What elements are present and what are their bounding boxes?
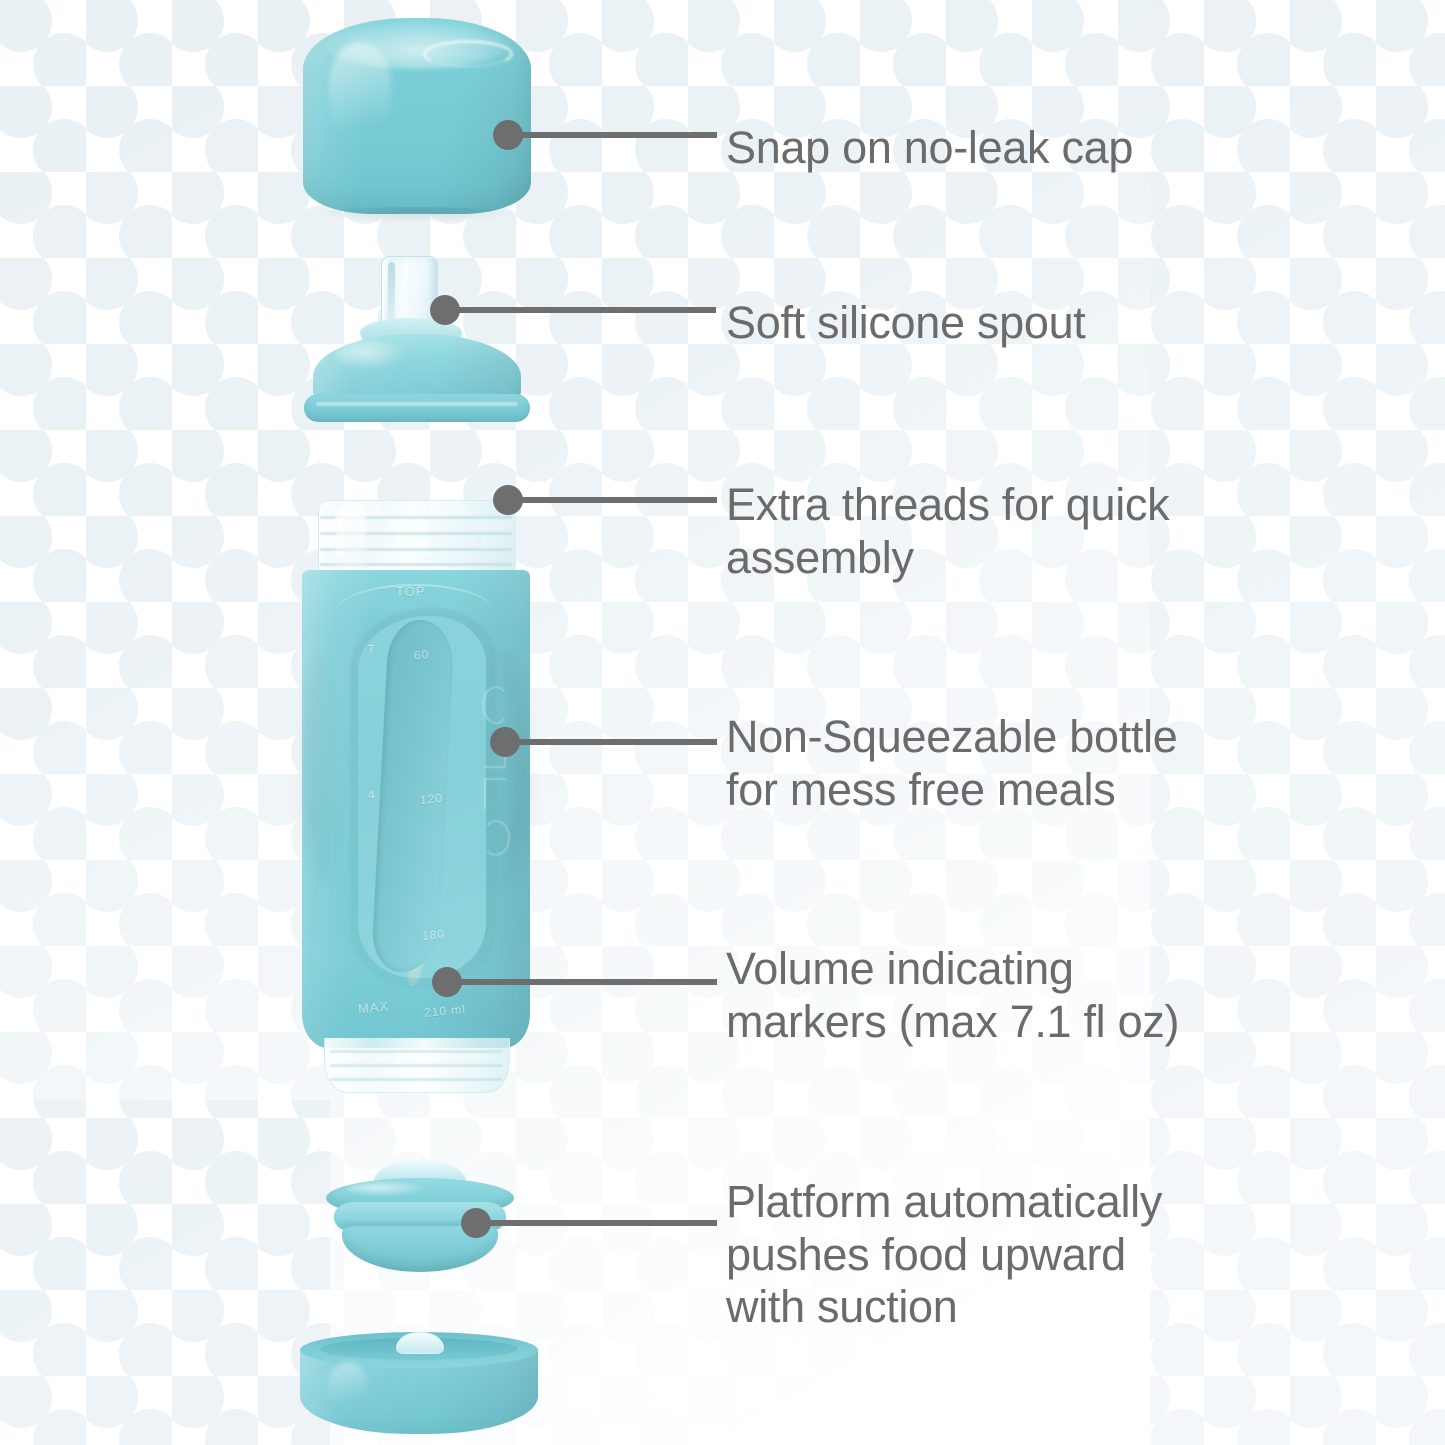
product-part-bottom-cap [300,1332,538,1442]
callout-line-markers [460,979,717,985]
callout-line-platform [489,1220,717,1226]
callout-line-threads [521,497,717,503]
callout-line-cap [521,132,717,138]
callout-leader-threads [493,485,717,515]
platform-flange-highlight [346,1182,426,1196]
emboss-graduation: 4 [367,788,376,803]
emboss-graduation: 7 [367,642,376,657]
callout-dot-markers [432,967,462,997]
callout-dot-cap [493,120,523,150]
bottom-cap-clear-nub [396,1332,444,1354]
spout-flange-ridge [316,402,518,406]
callout-label-cap: Snap on no-leak cap [726,122,1133,175]
callout-label-markers: Volume indicating markers (max 7.1 fl oz… [726,943,1179,1048]
sleeve-side-emboss-glyph [482,820,510,856]
callout-label-platform: Platform automatically pushes food upwar… [726,1176,1162,1334]
callout-dot-threads [493,485,523,515]
spout-lid-flange [304,394,530,422]
cap-base-shadow [313,207,521,223]
emboss-max-label: MAX [357,999,389,1017]
callout-leader-platform [461,1208,717,1238]
callout-leader-bottle [490,727,717,757]
callout-label-spout: Soft silicone spout [726,297,1086,350]
emboss-graduation: 180 [421,927,445,943]
emboss-top-label: TOP [396,584,426,599]
bottle-base-ring [330,1078,502,1081]
sleeve-side-emboss-glyph [484,778,506,810]
callout-dot-spout [430,295,460,325]
callout-dot-platform [461,1208,491,1238]
bottle-base-ring [330,1064,502,1067]
callout-leader-spout [430,295,716,325]
background-dot-pattern [0,0,1445,1445]
sleeve-left-shading [302,650,348,880]
bottom-cap-highlight [328,1362,368,1414]
callout-leader-markers [432,967,717,997]
callout-line-spout [458,307,716,313]
callout-leader-cap [493,120,717,150]
callout-dot-bottle [490,727,520,757]
product-part-bottle: TOP 7 60 4 120 180 MAX 210 ml [296,500,536,1100]
callout-label-bottle: Non-Squeezable bottle for mess free meal… [726,711,1178,816]
callout-line-bottle [518,739,717,745]
spout-nozzle-highlight [388,262,395,324]
emboss-graduation: 60 [413,647,430,663]
spout-dome-highlight [336,340,406,370]
bottle-neck-highlight [336,504,366,574]
emboss-graduation: 120 [419,791,443,807]
bottle-base-ring [330,1050,502,1053]
sleeve-side-emboss-glyph [482,686,510,724]
cap-gloss-ring [423,40,513,68]
product-part-spout-lid [300,256,534,431]
infographic-canvas: TOP 7 60 4 120 180 MAX 210 ml Snap on no… [0,0,1445,1445]
callout-label-threads: Extra threads for quick assembly [726,479,1169,584]
